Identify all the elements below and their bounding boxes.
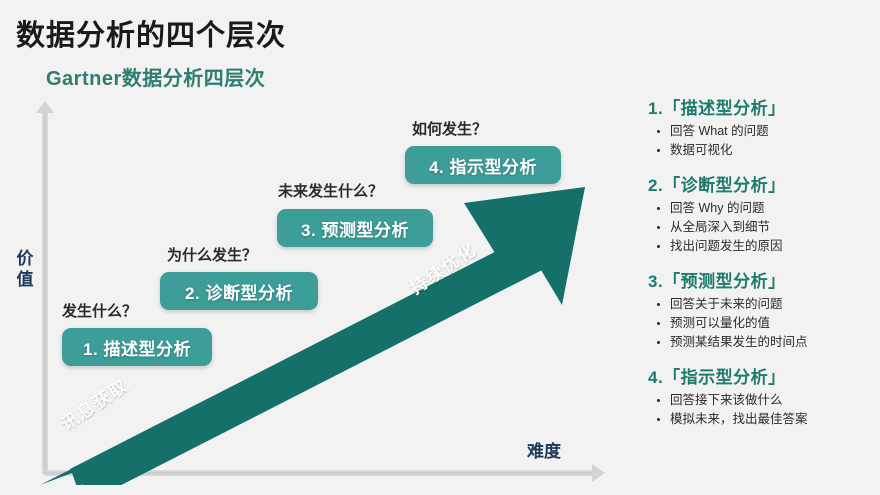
list-item: 预测可以量化的值 [648,314,874,333]
difficulty-axis-arrow-icon [592,464,605,482]
description-group-1: 1.「描述型分析」 回答 What 的问题 数据可视化 [648,94,874,160]
list-item: 找出问题发生的原因 [648,237,874,256]
description-bullets-1: 回答 What 的问题 数据可视化 [648,122,874,160]
list-item: 数据可视化 [648,141,874,160]
list-item: 回答 Why 的问题 [648,199,874,218]
difficulty-axis [44,470,594,476]
description-heading-1: 1.「描述型分析」 [648,94,874,119]
list-item: 模拟未来，找出最佳答案 [648,410,874,429]
slide-canvas: 数据分析的四个层次 Gartner数据分析四层次 价 值 难度 讯息获取 持续优… [0,0,880,495]
list-item: 预测某结果发生的时间点 [648,333,874,352]
stage-caption-2: 为什么发生？ [167,244,257,265]
stage-caption-1: 发生什么？ [62,300,137,321]
stage-box-descriptive[interactable]: 1. 描述型分析 [62,328,212,366]
stage-box-prescriptive[interactable]: 4. 指示型分析 [405,146,561,184]
stage-box-predictive[interactable]: 3. 预测型分析 [277,209,433,247]
stage-caption-4: 如何发生？ [412,118,487,139]
page-title: 数据分析的四个层次 [16,12,286,54]
page-subtitle: Gartner数据分析四层次 [46,62,265,91]
list-item: 回答接下来该做什么 [648,391,874,410]
description-heading-3: 3.「预测型分析」 [648,267,874,292]
description-heading-2: 2.「诊断型分析」 [648,171,874,196]
axis-label-value: 价 值 [14,248,36,290]
list-item: 回答关于未来的问题 [648,295,874,314]
description-group-2: 2.「诊断型分析」 回答 Why 的问题 从全局深入到细节 找出问题发生的原因 [648,171,874,256]
description-bullets-4: 回答接下来该做什么 模拟未来，找出最佳答案 [648,391,874,429]
arrow-label-information-acquisition: 讯息获取 [55,372,132,435]
description-group-4: 4.「指示型分析」 回答接下来该做什么 模拟未来，找出最佳答案 [648,363,874,429]
stage-caption-3: 未来发生什么？ [278,180,383,201]
list-item: 回答 What 的问题 [648,122,874,141]
description-heading-4: 4.「指示型分析」 [648,363,874,388]
axis-label-value-char1: 价 [14,248,36,269]
stage-box-diagnostic[interactable]: 2. 诊断型分析 [160,272,318,310]
description-bullets-3: 回答关于未来的问题 预测可以量化的值 预测某结果发生的时间点 [648,295,874,352]
description-group-3: 3.「预测型分析」 回答关于未来的问题 预测可以量化的值 预测某结果发生的时间点 [648,267,874,352]
description-bullets-2: 回答 Why 的问题 从全局深入到细节 找出问题发生的原因 [648,199,874,256]
description-panel: 1.「描述型分析」 回答 What 的问题 数据可视化 2.「诊断型分析」 回答… [648,94,874,440]
list-item: 从全局深入到细节 [648,218,874,237]
axis-label-difficulty: 难度 [527,437,561,462]
axis-label-value-char2: 值 [14,269,36,290]
value-axis-arrow-icon [36,101,54,113]
value-axis [42,112,48,474]
